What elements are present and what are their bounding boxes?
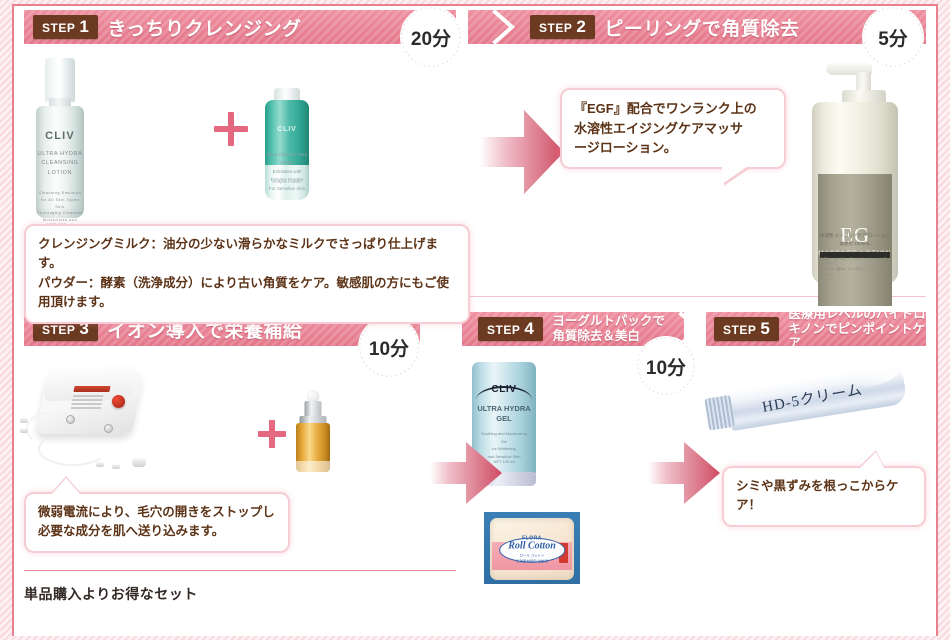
ion-device-button-rows	[71, 395, 104, 409]
step-5-title: 医療用レベルのハイドロ キノンでピンポイントケア	[788, 312, 926, 346]
lotion-cap	[45, 58, 75, 102]
clock-badge-step1: 20分	[400, 6, 462, 68]
clock-badge-step3: 10分	[358, 316, 420, 378]
ion-device-cable-2	[38, 432, 108, 466]
callout-step5: シミや黒ずみを根っこからケア！	[722, 466, 926, 527]
callout-step1: クレンジングミルク：油分の少ない滑らかなミルクでさっぱり仕上げます。 パウダー：…	[24, 224, 470, 324]
callout-step3-text: 微弱電流により、毛穴の開きをストップし 必要な成分を肌へ送り込みます。	[26, 494, 288, 551]
step-5-chip-number: 5	[760, 320, 770, 337]
step-1-chip-label: STEP	[42, 22, 75, 34]
callout-step5-text: シミや黒ずみを根っこからケア！	[724, 468, 924, 525]
product-cleansing-lotion: CLIV ULTRA HYDRA CLEANSING LOTION Cleans…	[36, 58, 84, 218]
step-2-chip-number: 2	[576, 18, 586, 35]
product-roll-cotton: FLORA Roll Cotton ロール コットン 天然素材使用 化粧用	[484, 512, 580, 584]
hd5-tube-crimp	[704, 395, 735, 431]
powder-brand: CLIV	[265, 126, 309, 133]
step-1-header: STEP 1 きっちりクレンジング	[24, 10, 456, 44]
step-2-chip: STEP 2	[530, 15, 595, 39]
step-1-title: きっちりクレンジング	[107, 14, 301, 41]
clock-badge-step2: 5分	[862, 6, 924, 68]
step-3-chip-label: STEP	[42, 324, 75, 336]
ion-device-probe-3	[96, 462, 104, 467]
callout-step3: 微弱電流により、毛穴の開きをストップし 必要な成分を肌へ送り込みます。	[24, 492, 290, 553]
ion-device-power-button[interactable]	[112, 395, 125, 408]
clock-label-step1: 20分	[411, 24, 451, 51]
gel-brand: CLIV	[472, 384, 536, 395]
ion-device-probe-1	[20, 418, 28, 423]
cotton-name: Roll Cotton	[508, 542, 556, 552]
eg-bottle-body: EG MASSAGE LOTION 水溶性 エイジングケア ローション 業務用 …	[812, 102, 898, 284]
cotton-bag: FLORA Roll Cotton ロール コットン 天然素材使用 化粧用	[490, 518, 574, 580]
callout-step1-text: クレンジングミルク：油分の少ない滑らかなミルクでさっぱり仕上げます。 パウダー：…	[26, 226, 468, 322]
step-1-chip-number: 1	[79, 18, 89, 35]
plus-icon-2	[258, 420, 286, 448]
chevron-right-icon-1	[492, 10, 518, 44]
step-4-chip: STEP 4	[478, 317, 543, 341]
callout-step2-tail	[722, 166, 748, 184]
step-2-chip-label: STEP	[539, 22, 572, 34]
ion-device-attachment	[132, 458, 146, 467]
clock-badge-step4: 10分	[636, 336, 696, 396]
arrow-right-icon-2	[430, 440, 504, 511]
step-1-chip: STEP 1	[33, 15, 98, 39]
ion-device-probe-4	[112, 464, 120, 469]
ion-device-probe-2	[20, 428, 28, 433]
lotion-body: CLIV ULTRA HYDRA CLEANSING LOTION Cleans…	[36, 106, 84, 218]
clock-label-step3: 10分	[369, 334, 409, 361]
clock-label-step4: 10分	[646, 353, 686, 380]
product-ion-device	[16, 362, 166, 482]
ion-device-dial-right[interactable]	[104, 424, 113, 433]
product-serum	[296, 390, 330, 472]
footer-note: 単品購入よりお得なセット	[24, 584, 198, 604]
product-eg-massage-lotion: EG MASSAGE LOTION 水溶性 エイジングケア ローション 業務用 …	[812, 62, 898, 284]
step-5-header: STEP 5 医療用レベルのハイドロ キノンでピンポイントケア	[706, 312, 926, 346]
callout-step3-tail	[52, 478, 80, 494]
step-4-title: ヨーグルトパックで 角質除去＆美白	[552, 314, 665, 344]
step-4-chip-number: 4	[524, 320, 534, 337]
eg-fine-print: 全成分：水、BG、グリセリン、ヒト オリゴペプチド-1、 ヒアルロン酸Na、カル…	[820, 257, 890, 278]
serum-bottle-body	[296, 423, 330, 472]
cotton-sub: 天然素材使用 化粧用	[516, 559, 547, 564]
ion-device-display	[73, 386, 110, 392]
footer-divider	[24, 570, 456, 571]
arrow-right-icon-1	[480, 108, 566, 201]
callout-step2: 『EGF』配合でワンランク上の 水溶性エイジングケアマッサ ージローション。	[560, 88, 786, 169]
lotion-brand: CLIV	[36, 130, 84, 142]
gel-name: ULTRA HYDRA GEL	[472, 404, 536, 424]
powder-fine-print: Deep Cleanser Pure Gentle Exfoliates wit…	[265, 151, 309, 194]
step-4-chip-label: STEP	[487, 324, 520, 336]
clock-label-step2: 5分	[878, 24, 908, 51]
step-2-header: STEP 2 ピーリングで角質除去	[468, 10, 926, 44]
plus-icon-1	[214, 112, 248, 146]
powder-tagline: Enzyme Powder	[265, 178, 309, 186]
step-5-chip: STEP 5	[714, 317, 779, 341]
arrow-right-icon-3	[648, 440, 722, 511]
product-enzyme-powder: CLIV Deep Cleanser Pure Gentle Exfoliate…	[265, 88, 309, 200]
cotton-jp-name: ロール コットン	[520, 553, 545, 558]
step-5-chip-label: STEP	[723, 324, 756, 336]
callout-step5-tail	[860, 452, 884, 468]
callout-step2-text: 『EGF』配合でワンランク上の 水溶性エイジングケアマッサ ージローション。	[562, 90, 784, 167]
infographic-root: STEP 1 きっちりクレンジング STEP 2 ピーリングで角質除去 20分	[0, 0, 950, 640]
lotion-name: ULTRA HYDRA CLEANSING LOTION	[36, 150, 84, 178]
cotton-label-oval: FLORA Roll Cotton ロール コットン 天然素材使用 化粧用	[499, 538, 565, 563]
eg-jp-text: 水溶性 エイジングケア ローション 業務用 1000mL	[820, 232, 890, 248]
step-2-title: ピーリングで角質除去	[604, 14, 799, 41]
